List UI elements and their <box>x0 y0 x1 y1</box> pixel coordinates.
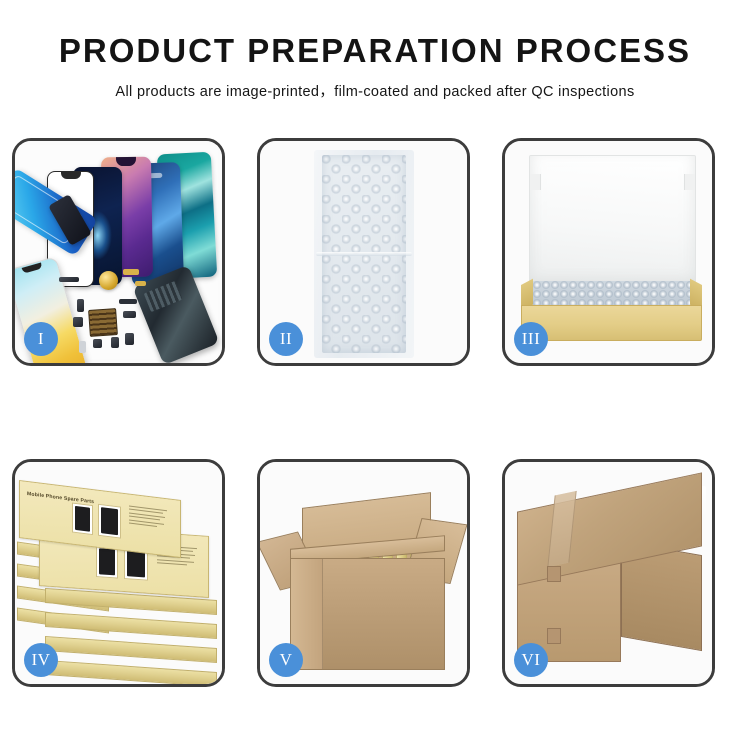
step-badge-6: VI <box>514 643 548 677</box>
process-step-1: I <box>12 138 225 366</box>
step-badge-5: V <box>269 643 303 677</box>
speaker-module-icon <box>99 271 118 290</box>
part-small-4-icon <box>111 337 119 348</box>
process-step-6: VI <box>502 459 715 687</box>
step-badge-4: IV <box>24 643 58 677</box>
open-mailer-box-icon <box>521 155 702 341</box>
sealed-shipping-carton-icon <box>511 486 706 670</box>
part-small-3-icon <box>93 339 102 348</box>
step-badge-1: I <box>24 322 58 356</box>
flex-cable-1-icon <box>123 269 139 275</box>
page-title: PRODUCT PREPARATION PROCESS <box>0 34 750 69</box>
product-preparation-page: PRODUCT PREPARATION PROCESS All products… <box>0 0 750 750</box>
part-small-5-icon <box>125 333 134 345</box>
flex-cable-3-icon <box>119 299 137 304</box>
step-badge-2: II <box>269 322 303 356</box>
open-shipping-carton-icon <box>268 496 459 670</box>
page-header: PRODUCT PREPARATION PROCESS All products… <box>0 0 750 101</box>
part-small-2-icon <box>73 317 83 327</box>
bubble-wrapped-product-icon <box>314 150 414 358</box>
flex-cable-2-icon <box>135 281 146 286</box>
page-subtitle: All products are image-printed，film-coat… <box>0 80 750 101</box>
process-step-5: V <box>257 459 470 687</box>
process-step-grid: I II III <box>12 138 738 687</box>
sim-tray-icon <box>79 341 86 353</box>
part-small-1-icon <box>77 299 84 312</box>
process-step-3: III <box>502 138 715 366</box>
chip-board-icon <box>88 308 118 337</box>
part-small-6-icon <box>123 311 136 318</box>
process-step-4: Mobile Phone Spare Parts Mobile Phone Sp… <box>12 459 225 687</box>
process-step-2: II <box>257 138 470 366</box>
part-strip-icon <box>59 277 79 282</box>
step-badge-3: III <box>514 322 548 356</box>
